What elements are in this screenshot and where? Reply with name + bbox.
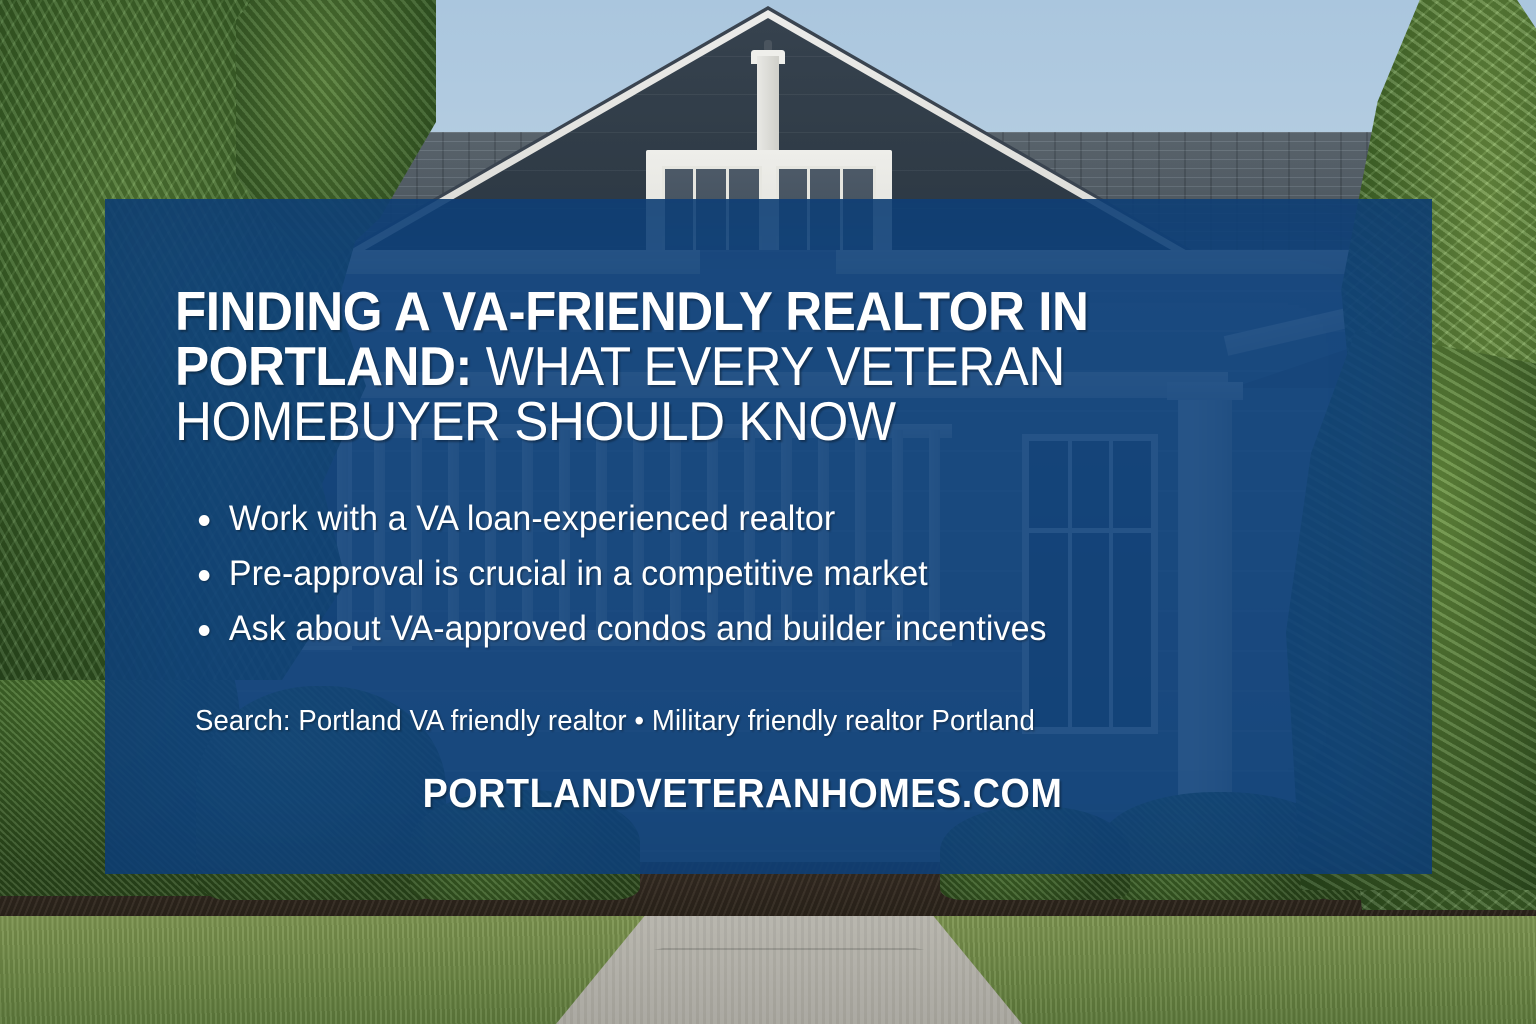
search-terms-line: Search: Portland VA friendly realtor • M… [195,704,1035,738]
list-item: Work with a VA loan-experienced realtor [193,491,1047,546]
blue-overlay-panel: FINDING A VA-FRIENDLY REALTOR IN PORTLAN… [105,199,1432,874]
list-item: Pre-approval is crucial in a competitive… [193,546,1047,601]
website-url[interactable]: PORTLANDVETERANHOMES.COM [220,769,1264,817]
list-item-label: Pre-approval is crucial in a competitive… [229,554,928,593]
graphic-canvas: FINDING A VA-FRIENDLY REALTOR IN PORTLAN… [0,0,1536,1024]
bullet-dot-icon [199,625,210,636]
overlay-content: FINDING A VA-FRIENDLY REALTOR IN PORTLAN… [175,199,1392,874]
bullet-dot-icon [199,515,210,526]
bullet-dot-icon [199,570,210,581]
list-item-label: Ask about VA-approved condos and builder… [229,609,1047,648]
list-item-label: Work with a VA loan-experienced realtor [229,499,835,538]
list-item: Ask about VA-approved condos and builder… [193,601,1047,656]
page-title: FINDING A VA-FRIENDLY REALTOR IN PORTLAN… [175,284,1231,449]
key-points-list: Work with a VA loan-experienced realtor … [193,491,1073,656]
